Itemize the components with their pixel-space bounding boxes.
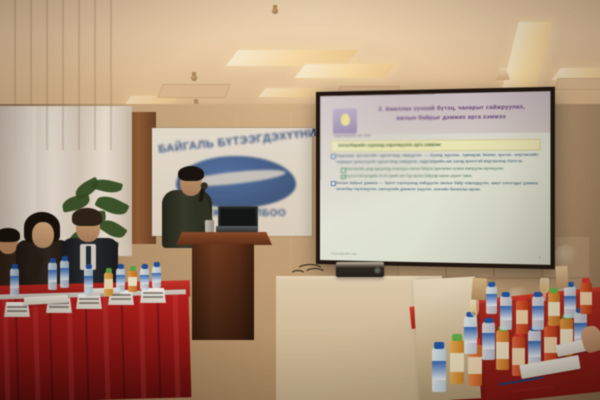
water-bottle (486, 286, 497, 314)
juice-bottle (548, 292, 560, 326)
skirt-pleat (85, 297, 90, 400)
bottle-label (496, 342, 509, 359)
placard-line (49, 306, 69, 308)
skirt-highlight (103, 297, 111, 400)
panelist-hair (72, 208, 102, 226)
name-placard (140, 288, 166, 303)
bottle-label (128, 277, 137, 286)
juice-bottle (516, 300, 528, 334)
ceiling-vent-3 (555, 78, 600, 90)
projector-lens-icon (374, 267, 381, 274)
bottle-label (482, 333, 495, 349)
bottle-label (532, 306, 544, 320)
projector-cable-3 (290, 270, 306, 280)
skirt-pleat (157, 295, 162, 398)
juice-bottle (580, 282, 592, 314)
cove-light-3 (295, 64, 396, 78)
bottle-cap (582, 278, 590, 283)
skirt-highlight (173, 295, 181, 398)
bottle-label (104, 279, 113, 289)
bottle-label (60, 268, 69, 280)
bottle-cap (153, 262, 159, 267)
curtain-fold (110, 0, 112, 150)
bottle-cap (502, 292, 510, 297)
water-bottle (60, 260, 69, 288)
juice-glass (470, 300, 479, 316)
water-bottle (500, 296, 512, 330)
water-bottle (84, 268, 93, 294)
placard-line (79, 298, 99, 300)
bottle-cap (484, 318, 493, 323)
bottle-cap (85, 264, 91, 269)
panelist-head (32, 222, 54, 248)
skirt-highlight (139, 296, 147, 399)
bottle-cap (117, 264, 123, 269)
water-bottle (532, 296, 544, 330)
sprinkler-head-3 (272, 8, 278, 14)
skirt-pleat (49, 298, 54, 400)
projector-cable-2 (304, 268, 326, 280)
juice-glass (540, 278, 549, 294)
bottle-label (580, 292, 592, 305)
bottle-cap (129, 266, 135, 271)
bottle-cap (105, 268, 111, 273)
bottle-cap (452, 334, 462, 341)
placard-line (111, 298, 131, 300)
bottle-label (140, 275, 149, 284)
placard-line (143, 292, 163, 294)
projection-screen: 2. Ажиллах хүчний бүтэц, чанарыг сайжруу… (316, 87, 555, 269)
skirt-highlight (33, 298, 41, 400)
curtain-fold (94, 0, 96, 150)
water-bottle (564, 286, 576, 318)
water-bottle (152, 266, 161, 288)
ceiling-vent-1 (157, 84, 231, 98)
screen-surface: 2. Ажиллах хүчний бүтэц, чанарыг сайжруу… (320, 91, 551, 265)
bottle-cap (61, 256, 67, 261)
bottle-label (500, 306, 512, 320)
water-bottle (140, 268, 149, 290)
projector-device (336, 262, 384, 277)
panelist-hair (0, 228, 20, 242)
water-bottle (10, 268, 19, 296)
bottle-cap (49, 258, 55, 263)
curtain-fold (46, 0, 48, 150)
bottle-label (516, 310, 528, 324)
water-bottle (116, 268, 125, 292)
placard-line (143, 296, 163, 298)
water-bottle (432, 348, 446, 392)
sprinkler-head-1 (191, 75, 197, 81)
juice-bottle (496, 330, 509, 370)
bottle-label (84, 276, 93, 287)
curtain-fold (78, 0, 80, 150)
skirt-pleat (121, 296, 126, 399)
placard-line (79, 302, 99, 304)
cove-light-8 (258, 88, 321, 97)
bottle-label (528, 341, 541, 357)
laptop-keyboard (216, 226, 258, 232)
bottle-label (450, 353, 464, 371)
placard-line (7, 306, 27, 308)
juice-bottle (104, 272, 113, 296)
bottle-label (116, 275, 125, 285)
bottle-label (464, 327, 477, 343)
placard-line (7, 310, 27, 312)
bottle-label (468, 357, 482, 375)
bottle-label (564, 296, 576, 309)
paper-packet (471, 278, 487, 301)
bottle-label (10, 276, 19, 288)
bottle-cap (141, 264, 147, 269)
curtain-fold (62, 0, 64, 150)
bottle-label (432, 361, 446, 379)
paper-packet (555, 266, 568, 289)
juice-bottle (450, 340, 464, 384)
water-bottle (482, 322, 495, 360)
presenter-hair (178, 166, 204, 181)
bottle-cap (434, 342, 444, 349)
bottle-cap (488, 282, 496, 287)
bottle-cap (550, 288, 558, 293)
plant-leaf (91, 177, 123, 196)
bottle-label (48, 270, 57, 282)
conference-room-photo: БАЙГАЛЬ БҮТЭЭГДЭХҮҮНИЙ ДЭМЖИХ ХОЛБОО 2. … (0, 0, 600, 400)
bottle-cap (518, 296, 526, 301)
bottle-cap (11, 264, 17, 269)
water-bottle (48, 262, 57, 290)
placard-line (111, 294, 131, 296)
screen-softfocus (320, 91, 551, 265)
podium-shadow (192, 244, 254, 340)
juice-bottle (128, 270, 137, 292)
water-cup (205, 220, 214, 232)
bottle-label (152, 273, 161, 282)
bottle-label (512, 348, 525, 365)
bottle-label (548, 302, 560, 316)
name-placard (76, 294, 102, 309)
bottle-label (486, 294, 497, 306)
